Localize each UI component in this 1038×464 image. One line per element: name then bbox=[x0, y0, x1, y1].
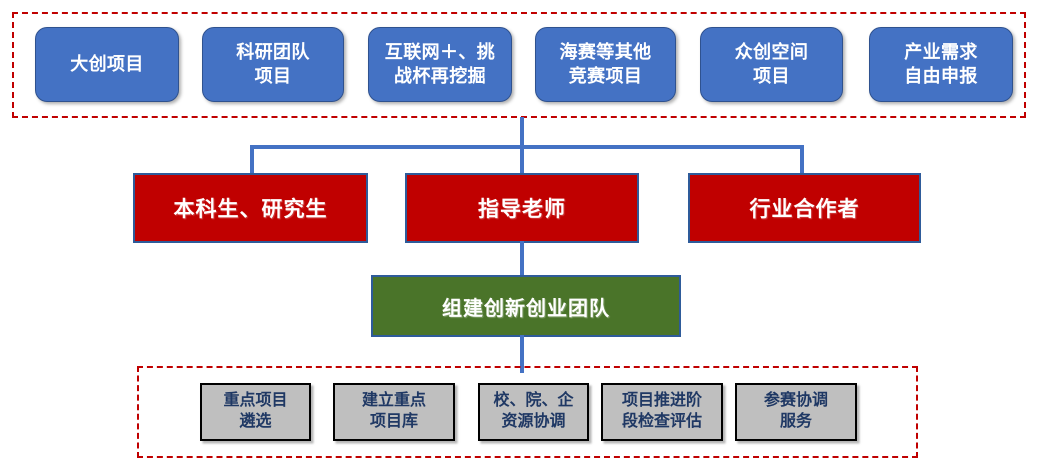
actor-box-label: 指导老师 bbox=[478, 193, 566, 223]
actor-box-label: 本科生、研究生 bbox=[174, 193, 328, 223]
service-box-label: 参赛协调 服务 bbox=[764, 391, 828, 433]
team-node-label: 组建创新创业团队 bbox=[442, 292, 610, 321]
source-box-4[interactable]: 众创空间 项目 bbox=[700, 27, 843, 102]
diagram-canvas: 大创项目 科研团队 项目 互联网＋、挑 战杯再挖掘 海赛等其他 竞赛项目 众创空… bbox=[0, 0, 1038, 464]
actor-box-partners[interactable]: 行业合作者 bbox=[688, 173, 921, 243]
source-box-label: 海赛等其他 竞赛项目 bbox=[560, 41, 652, 87]
connector-distribution-bar bbox=[250, 145, 804, 149]
connector-actors-to-team bbox=[520, 241, 524, 277]
actor-box-teachers[interactable]: 指导老师 bbox=[405, 173, 639, 243]
service-box-label: 校、院、企 资源协调 bbox=[493, 391, 573, 433]
actor-box-label: 行业合作者 bbox=[750, 193, 860, 223]
connector-drop-students bbox=[250, 145, 254, 175]
connector-drop-partners bbox=[800, 145, 804, 175]
service-box-4[interactable]: 参赛协调 服务 bbox=[735, 383, 857, 441]
service-box-0[interactable]: 重点项目 遴选 bbox=[200, 383, 311, 441]
source-box-5[interactable]: 产业需求 自由申报 bbox=[869, 27, 1013, 102]
source-box-label: 科研团队 项目 bbox=[236, 41, 310, 87]
source-box-label: 互联网＋、挑 战杯再挖掘 bbox=[385, 41, 495, 87]
service-box-label: 重点项目 遴选 bbox=[223, 391, 287, 433]
service-box-label: 项目推进阶 段检查评估 bbox=[622, 391, 702, 433]
source-box-label: 众创空间 项目 bbox=[735, 41, 809, 87]
source-box-2[interactable]: 互联网＋、挑 战杯再挖掘 bbox=[368, 27, 512, 102]
service-box-3[interactable]: 项目推进阶 段检查评估 bbox=[601, 383, 723, 441]
service-box-2[interactable]: 校、院、企 资源协调 bbox=[478, 383, 589, 441]
connector-drop-teachers bbox=[520, 145, 524, 175]
service-box-label: 建立重点 项目库 bbox=[362, 391, 426, 433]
actor-box-students[interactable]: 本科生、研究生 bbox=[133, 173, 368, 243]
team-node[interactable]: 组建创新创业团队 bbox=[371, 275, 681, 337]
source-box-3[interactable]: 海赛等其他 竞赛项目 bbox=[535, 27, 676, 102]
connector-sources-trunk bbox=[520, 117, 524, 147]
source-box-label: 产业需求 自由申报 bbox=[904, 41, 978, 87]
source-box-0[interactable]: 大创项目 bbox=[35, 27, 179, 102]
source-box-1[interactable]: 科研团队 项目 bbox=[202, 27, 344, 102]
service-box-1[interactable]: 建立重点 项目库 bbox=[333, 383, 455, 441]
source-box-label: 大创项目 bbox=[70, 53, 144, 76]
